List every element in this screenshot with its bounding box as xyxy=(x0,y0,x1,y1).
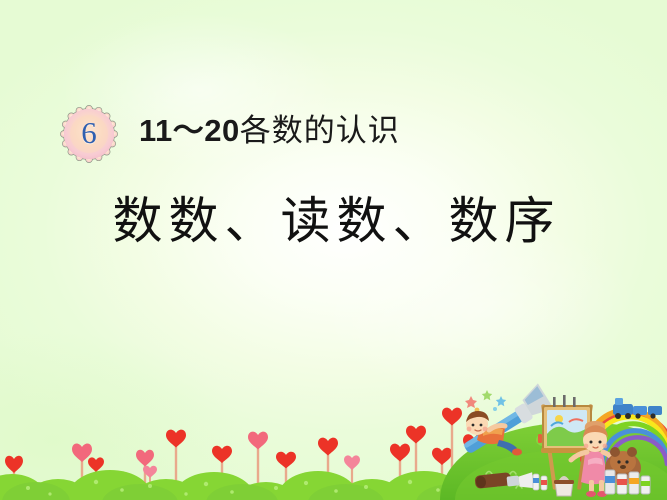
slide-canvas: 6 11～20各数的认识 数数、读数、数序 xyxy=(0,0,667,500)
lesson-number-badge: 6 xyxy=(57,102,121,166)
boy-with-paintbrush-icon xyxy=(456,383,553,459)
paint-roller-icon xyxy=(474,472,533,489)
paint-tubes-icon xyxy=(533,474,547,490)
subject-heading-text: 各数的认识 xyxy=(240,113,400,149)
paint-bucket-icon xyxy=(554,476,574,496)
subject-heading: 11～20各数的认识 xyxy=(139,108,400,154)
sparkle-icons xyxy=(465,390,506,412)
painting-scene-graphic xyxy=(455,382,667,500)
page-title: 数数、读数、数序 xyxy=(0,187,667,255)
toy-train-icon xyxy=(613,398,662,419)
children-painting-illustration xyxy=(455,382,667,500)
lesson-number-text: 6 xyxy=(57,102,121,166)
subject-heading-range: 11～20 xyxy=(139,113,240,148)
